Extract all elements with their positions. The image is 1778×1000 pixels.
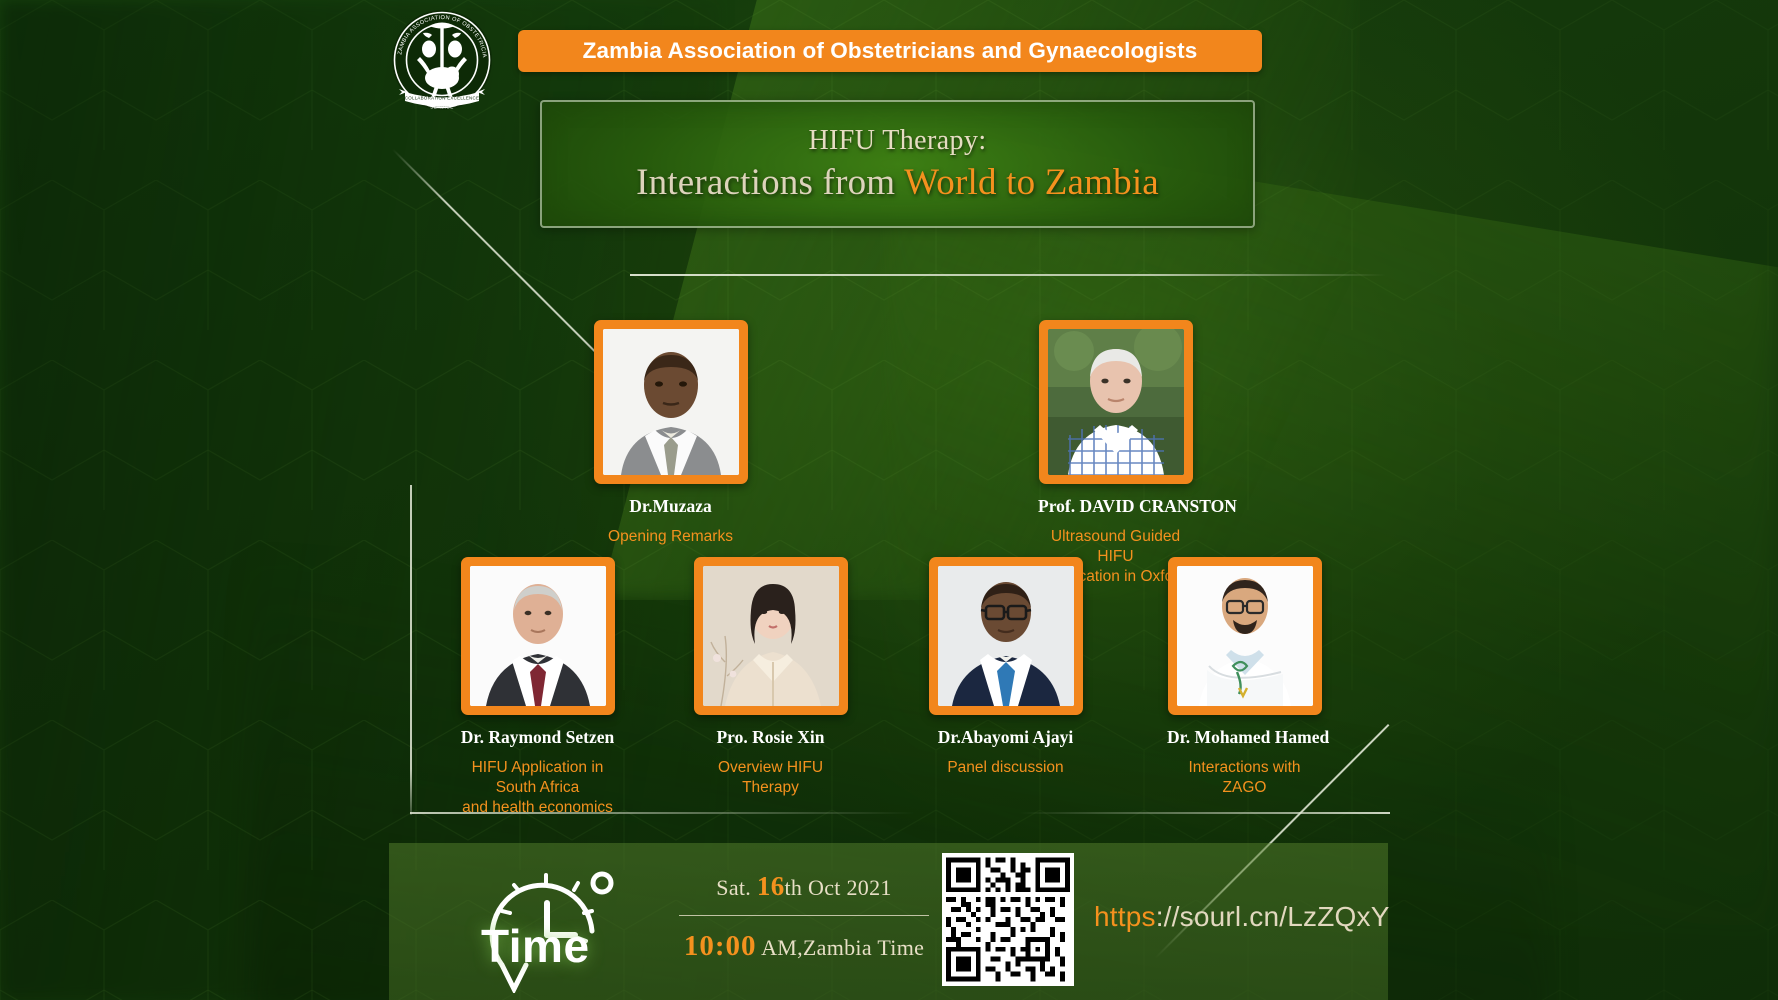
qr-code-container[interactable] — [942, 853, 1074, 986]
speaker-role-4: Panel discussion — [928, 758, 1083, 778]
title-line-2: Interactions from World to Zambia — [636, 161, 1159, 204]
speaker-card-4: Dr.Abayomi Ajayi Panel discussion — [928, 557, 1083, 778]
decor-line-left — [410, 485, 412, 815]
event-info-bar: Time Sat. 16th Oct 2021 10:00 AM,Zambia … — [389, 843, 1388, 1000]
date-divider — [679, 915, 929, 916]
decor-line-top — [630, 274, 1386, 276]
speaker-role-0: Opening Remarks — [593, 527, 748, 547]
organisation-name: Zambia Association of Obstetricians and … — [583, 38, 1198, 64]
registration-qr-code[interactable] — [946, 857, 1070, 982]
speaker-name-2: Dr. Raymond Setzen — [460, 727, 615, 748]
date-time-block: Sat. 16th Oct 2021 10:00 AM,Zambia Time — [679, 871, 929, 963]
speaker-card-0: Dr.Muzaza Opening Remarks — [593, 320, 748, 547]
photo-dr-raymond-setzen — [470, 566, 606, 706]
speaker-role-2: HIFU Application in South Africa and hea… — [460, 758, 615, 818]
background-wedge-right — [880, 120, 1778, 940]
photo-prof-david-cranston — [1048, 329, 1184, 475]
event-time: 10:00 AM,Zambia Time — [679, 930, 929, 963]
link-scheme: https — [1094, 901, 1156, 932]
photo-frame-2 — [461, 557, 615, 715]
photo-dr-muzaza — [603, 329, 739, 475]
speaker-name-0: Dr.Muzaza — [593, 496, 748, 517]
time-suffix: AM,Zambia Time — [756, 935, 924, 960]
zago-logo-icon: ZAMBIA ASSOCIATION OF OBSTETRICIANS AND … — [389, 8, 495, 112]
time-value: 10:00 — [684, 930, 757, 962]
organisation-banner: Zambia Association of Obstetricians and … — [518, 30, 1262, 72]
speaker-name-5: Dr. Mohamed Hamed — [1167, 727, 1322, 748]
title-line-2-cream: Interactions from — [636, 162, 904, 203]
title-line-1: HIFU Therapy: — [808, 125, 986, 157]
poster-canvas: ZAMBIA ASSOCIATION OF OBSTETRICIANS AND … — [0, 0, 1778, 1000]
speaker-card-5: Dr. Mohamed Hamed Interactions with ZAGO — [1167, 557, 1322, 798]
poster-header: ZAMBIA ASSOCIATION OF OBSTETRICIANS AND … — [0, 0, 1778, 104]
speaker-role-2-line2: and health economics — [460, 798, 615, 818]
event-date: Sat. 16th Oct 2021 — [679, 871, 929, 902]
speaker-name-4: Dr.Abayomi Ajayi — [928, 727, 1083, 748]
speaker-role-2-line1: HIFU Application in South Africa — [460, 758, 615, 798]
title-plaque: HIFU Therapy: Interactions from World to… — [540, 100, 1255, 228]
speaker-card-1: Prof. DAVID CRANSTON Ultrasound Guided H… — [1038, 320, 1193, 587]
svg-text:SERVICE: SERVICE — [430, 105, 454, 110]
date-suffix: th Oct 2021 — [785, 875, 892, 900]
photo-frame-3 — [694, 557, 848, 715]
title-line-2-orange: World to Zambia — [904, 162, 1159, 203]
speaker-name-1: Prof. DAVID CRANSTON — [1038, 496, 1193, 517]
speaker-card-2: Dr. Raymond Setzen HIFU Application in S… — [460, 557, 615, 818]
clock-label: Time — [481, 919, 590, 973]
photo-frame-5 — [1168, 557, 1322, 715]
photo-frame-4 — [929, 557, 1083, 715]
date-day: 16 — [757, 871, 785, 901]
speaker-name-3: Pro. Rosie Xin — [693, 727, 848, 748]
registration-link[interactable]: https://sourl.cn/LzZQxY — [1094, 901, 1390, 933]
speaker-role-3: Overview HIFU Therapy — [693, 758, 848, 798]
photo-pro-rosie-xin — [703, 566, 839, 706]
photo-frame-1 — [1039, 320, 1193, 484]
date-prefix: Sat. — [716, 875, 757, 900]
photo-frame-0 — [594, 320, 748, 484]
decor-line-bottom-right — [1020, 812, 1390, 814]
link-rest: ://sourl.cn/LzZQxY — [1156, 901, 1390, 932]
svg-text:COLLABORATION EXCELLENCE: COLLABORATION EXCELLENCE — [405, 95, 479, 100]
photo-dr-mohamed-hamed — [1177, 566, 1313, 706]
speaker-role-5: Interactions with ZAGO — [1167, 758, 1322, 798]
photo-dr-abayomi-ajayi — [938, 566, 1074, 706]
speaker-card-3: Pro. Rosie Xin Overview HIFU Therapy — [693, 557, 848, 798]
